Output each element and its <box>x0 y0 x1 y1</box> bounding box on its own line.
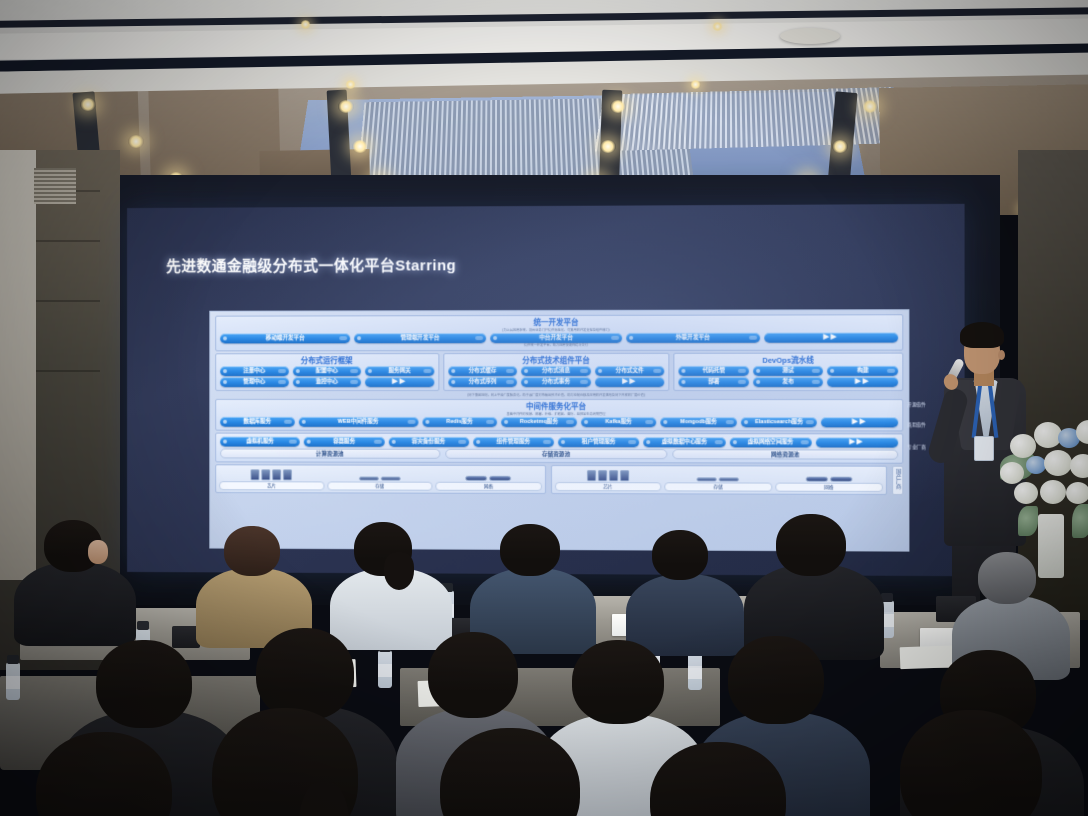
slide-row-dev-platform: 统一开发平台 (为上层应用系统、前台业务门户提供标准化、可复用的开发支撑及组件能… <box>215 314 903 351</box>
pill-elasticsearch-service[interactable]: Elasticsearch服务 <box>741 417 818 427</box>
water-bottle <box>6 662 20 700</box>
pill-management-center[interactable]: 管理中心 <box>220 377 288 387</box>
pill-container-service[interactable]: 容器服务 <box>304 437 384 447</box>
middleware-upper-note: (向下兼容适配，向上平滑广度服务化，助于云广度对象输出技术价值，助力适配迁移及应… <box>215 393 903 397</box>
runtime-pills-bottom: 管理中心 监控中心 ▶▶ <box>220 377 434 387</box>
hardware-label-chip-2: 芯片 <box>554 482 661 491</box>
pill-distributed-sequence[interactable]: 分布式序列 <box>448 377 517 387</box>
devops-header: DevOps流水线 <box>679 356 898 365</box>
conference-scene: 先进数通金融级分布式一体化平台Starring 统一开发平台 (为上层应用系统、… <box>0 0 1088 816</box>
ceiling-spotlight <box>128 135 144 148</box>
tech-components-header: 分布式技术组件平台 <box>448 356 665 365</box>
pill-dr-backup-service[interactable]: 容灾备份服务 <box>388 437 469 447</box>
pill-more-middleware[interactable]: ▶▶ <box>821 417 898 427</box>
ceiling-spotlight <box>862 100 878 113</box>
tech-components-box: 分布式技术组件平台 分布式缓存 分布式消息 分布式文件 分布式序列 分布式事务 … <box>443 353 670 391</box>
pill-distributed-cache[interactable]: 分布式缓存 <box>448 366 517 376</box>
pill-midplatform-dev[interactable]: 中台开发平台 <box>490 333 622 343</box>
pill-more-cloud[interactable]: ▶▶ <box>816 437 899 447</box>
hardware-label-network-2: 网络 <box>775 483 883 492</box>
middleware-subtext: 基础中间件的安装、部署、升级、扩缩容、备份、监控全生命周期管理 <box>220 412 898 416</box>
pill-mongodb-service[interactable]: Mongodb服务 <box>661 417 737 427</box>
ceiling-spotlight <box>300 20 311 29</box>
pill-more-runtime[interactable]: ▶▶ <box>365 377 434 387</box>
pill-distributed-message[interactable]: 分布式消息 <box>521 366 591 376</box>
pill-release[interactable]: 发布 <box>753 377 823 387</box>
hardware-cell-network: 网络 <box>435 468 541 491</box>
chip-icon <box>554 468 661 481</box>
hardware-label-storage: 存储 <box>327 481 432 490</box>
middleware-box: 中间件服务化平台 基础中间件的安装、部署、升级、扩缩容、备份、监控全生命周期管理… <box>215 399 903 431</box>
pill-more-dev[interactable]: ▶▶ <box>764 332 898 342</box>
middleware-pills: 数据库服务 WEB中间件服务 Redis服务 Rocketmq服务 Kafka服… <box>220 417 898 428</box>
pill-distributed-transaction[interactable]: 分布式事务 <box>521 377 591 387</box>
network-icon <box>775 469 883 482</box>
presenter-badge <box>974 436 994 461</box>
devops-box: DevOps流水线 代码托管 测试 构建 部署 发布 ▶▶ <box>674 353 904 391</box>
resource-pools: 计算资源池 存储资源池 网络资源池 <box>220 448 898 459</box>
pill-config-center[interactable]: 配置中心 <box>292 366 361 376</box>
water-bottle <box>688 652 702 690</box>
cloud-pills: 虚拟机服务 容器服务 容灾备份服务 组件管理服务 租户管理服务 虚拟数据中心服务… <box>220 437 898 448</box>
tech-pills-bottom: 分布式序列 分布式事务 ▶▶ <box>448 377 665 387</box>
pill-distributed-file[interactable]: 分布式文件 <box>595 366 665 376</box>
tech-pills-top: 分布式缓存 分布式消息 分布式文件 <box>448 366 665 376</box>
pill-kafka-service[interactable]: Kafka服务 <box>581 417 657 427</box>
water-bottle <box>378 650 392 688</box>
pill-deploy[interactable]: 部署 <box>679 377 749 387</box>
middleware-header: 中间件服务化平台 <box>220 402 898 411</box>
runtime-framework-box: 分布式运行框架 注册中心 配置中心 服务网关 管理中心 监控中心 ▶▶ <box>215 353 439 391</box>
ceiling-spotlight <box>338 100 354 113</box>
ceiling-dome-light <box>780 28 840 44</box>
pill-test[interactable]: 测试 <box>753 366 823 376</box>
dev-platform-box: 统一开发平台 (为上层应用系统、前台业务门户提供标准化、可复用的开发支撑及组件能… <box>215 314 903 351</box>
pill-admin-dev[interactable]: 管理端开发平台 <box>354 333 485 343</box>
side-tag-open-source: 开源软件 <box>904 402 928 408</box>
presenter-ear <box>998 350 1005 360</box>
presenter-hair <box>960 322 1004 348</box>
slide-row-hardware: 芯片 存储 网络 <box>215 464 903 495</box>
slide-row-middleware: 中间件服务化平台 基础中间件的安装、部署、升级、扩缩容、备份、监控全生命周期管理… <box>215 399 903 431</box>
pill-rocketmq-service[interactable]: Rocketmq服务 <box>501 417 577 427</box>
ceiling-spotlight <box>712 22 723 31</box>
wall-vent <box>34 168 76 204</box>
side-tag-professional-vendor: 专业厂商 <box>904 445 928 451</box>
ceiling-spotlight <box>610 100 626 113</box>
hardware-cell-chip: 芯片 <box>219 467 324 490</box>
ceiling-vent-grille-secondary <box>595 87 905 151</box>
ceiling-spotlight <box>832 140 848 153</box>
pill-tenant-mgmt-service[interactable]: 租户管理服务 <box>558 437 639 447</box>
hardware-label-chip: 芯片 <box>219 481 324 490</box>
hardware-label-storage-2: 存储 <box>664 482 771 491</box>
runtime-framework-header: 分布式运行框架 <box>220 356 434 365</box>
slide-title: 先进数通金融级分布式一体化平台Starring <box>166 254 456 276</box>
slide-row-cloud-services: 虚拟机服务 容器服务 容灾备份服务 组件管理服务 租户管理服务 虚拟数据中心服务… <box>215 433 903 464</box>
hardware-cell-network-2: 网络 <box>775 469 883 492</box>
pill-database-service[interactable]: 数据库服务 <box>220 417 294 427</box>
hardware-cell-storage-2: 存储 <box>664 468 771 491</box>
runtime-pills-top: 注册中心 配置中心 服务网关 <box>220 366 434 376</box>
dev-platform-header: 统一开发平台 <box>220 317 898 327</box>
devops-pills-bottom: 部署 发布 ▶▶ <box>679 377 898 387</box>
storage-icon <box>664 468 771 481</box>
dev-platform-note: (为上层应用系统、前台业务门户提供标准化、可复用的开发支撑及组件能力) <box>220 328 898 333</box>
slide-row-middle-columns: 分布式运行框架 注册中心 配置中心 服务网关 管理中心 监控中心 ▶▶ <box>215 353 903 391</box>
pool-network: 网络资源池 <box>673 449 899 459</box>
pill-more-devops[interactable]: ▶▶ <box>827 377 898 387</box>
cloud-services-box: 虚拟机服务 容器服务 容灾备份服务 组件管理服务 租户管理服务 虚拟数据中心服务… <box>215 433 903 464</box>
hardware-group-right: 芯片 存储 网络 <box>550 465 887 495</box>
hardware-cell-storage: 存储 <box>327 468 432 491</box>
devops-pills-top: 代码托管 测试 构建 <box>679 366 898 376</box>
pool-compute: 计算资源池 <box>220 448 440 458</box>
pill-web-middleware-service[interactable]: WEB中间件服务 <box>298 417 418 427</box>
ceiling-spotlight <box>600 140 616 153</box>
pill-more-tech[interactable]: ▶▶ <box>595 377 665 387</box>
hardware-label-network: 网络 <box>435 482 541 491</box>
pill-registry-center[interactable]: 注册中心 <box>220 366 288 376</box>
dev-platform-pills: 移动端开发平台 管理端开发平台 中台开发平台 外联开发平台 ▶▶ <box>220 332 898 343</box>
ceiling-spotlight <box>80 98 96 111</box>
pill-component-mgmt-service[interactable]: 组件管理服务 <box>473 437 554 447</box>
dev-platform-subtext: 提供统一开发平台，助力应用快速构建与交付 <box>220 343 898 347</box>
pill-virtual-datacenter-service[interactable]: 虚拟数据中心服务 <box>643 437 725 447</box>
ceiling-spotlight <box>352 140 368 153</box>
pill-vm-service[interactable]: 虚拟机服务 <box>220 437 300 447</box>
hardware-side-tag-domestic-vendor: 国产厂商 <box>892 466 903 495</box>
side-tag-commercial: 商用软件 <box>904 422 928 428</box>
ceiling-spotlight <box>345 80 356 89</box>
storage-icon <box>327 468 432 481</box>
hardware-cell-chip-2: 芯片 <box>554 468 661 491</box>
pill-external-dev[interactable]: 外联开发平台 <box>626 333 759 343</box>
pill-mobile-dev[interactable]: 移动端开发平台 <box>220 333 350 343</box>
pill-build[interactable]: 构建 <box>827 366 898 376</box>
pill-monitor-center[interactable]: 监控中心 <box>292 377 361 387</box>
pill-virtual-network-service[interactable]: 虚拟网络空间服务 <box>729 437 811 447</box>
pill-service-gateway[interactable]: 服务网关 <box>365 366 434 376</box>
pool-storage: 存储资源池 <box>445 449 668 459</box>
ceiling-spotlight <box>690 80 701 89</box>
audience-area: 国 胜 姜 奇 <box>0 500 1088 816</box>
hardware-group-left: 芯片 存储 网络 <box>215 464 545 494</box>
pill-redis-service[interactable]: Redis服务 <box>422 417 497 427</box>
pill-code-hosting[interactable]: 代码托管 <box>679 366 749 376</box>
chip-icon <box>219 467 324 480</box>
network-icon <box>435 468 541 481</box>
